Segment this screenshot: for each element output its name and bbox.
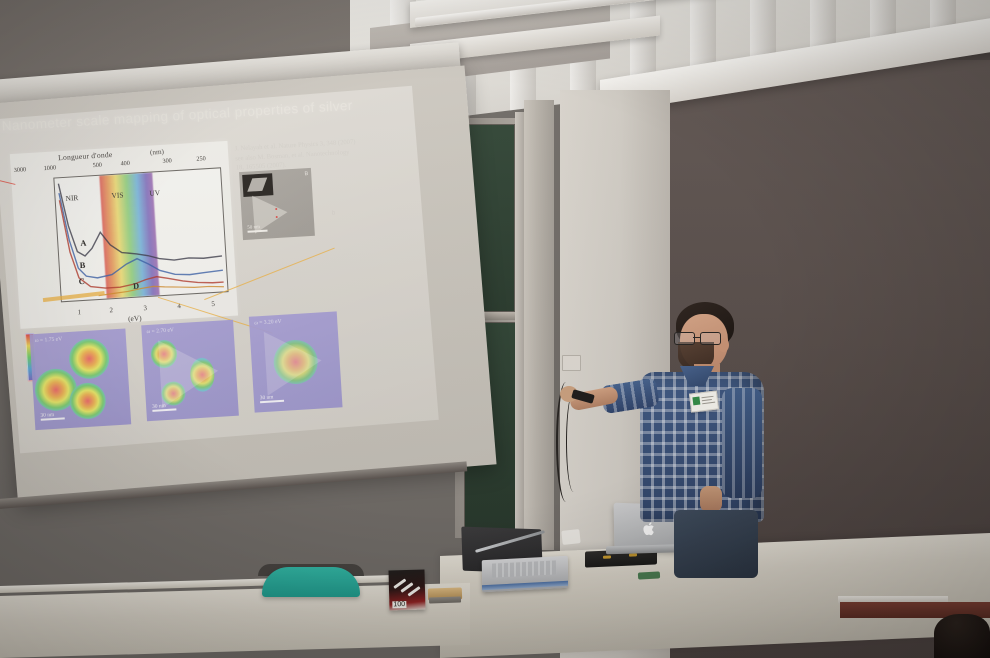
band-label-nir: NIR — [65, 193, 78, 203]
top-tick: 1000 — [44, 164, 57, 172]
presenter-person — [618, 296, 798, 578]
eels-map-label: ω = 3.20 eV — [254, 319, 282, 327]
top-tick: 3000 — [14, 166, 27, 174]
x-tick: 2 — [109, 306, 113, 314]
nanoprism-shape — [247, 178, 267, 192]
jeans — [674, 510, 758, 578]
tem-scalebar-label: 50 nm — [247, 225, 260, 231]
top-tick: 400 — [120, 160, 130, 168]
badge-logo-icon — [692, 397, 700, 406]
probe-point — [276, 216, 278, 218]
right-arm — [722, 388, 762, 498]
glasses-icon — [674, 332, 722, 344]
chart-plot-area: NIR VIS UV A B C D — [53, 167, 228, 302]
eels-map-label: ω = 1.75 eV — [35, 336, 63, 344]
eels-map-3p20ev: ω = 3.20 eV 30 nm — [249, 311, 343, 412]
status-light — [603, 555, 611, 558]
eels-map-scalebar-label: 30 nm — [40, 412, 54, 419]
chair-backrest — [262, 567, 360, 597]
eraser-felt — [429, 596, 461, 603]
name-badge — [689, 390, 719, 412]
eels-map-scalebar-label: 30 nm — [260, 394, 274, 401]
x-tick: 1 — [77, 308, 81, 316]
wall-switch[interactable] — [562, 355, 581, 371]
projection-screen: Nanometer scale mapping of optical prope… — [0, 66, 497, 503]
right-hand-in-pocket — [700, 486, 722, 512]
x-tick: 5 — [211, 300, 215, 308]
chalk-box-count: 100 — [392, 601, 406, 608]
nanoprism-outline — [264, 328, 324, 395]
curve-label-b: B — [79, 261, 85, 270]
chart-top-axis-unit: (nm) — [150, 148, 164, 157]
band-label-vis: VIS — [111, 190, 123, 200]
photo-scene: Nanometer scale mapping of optical prope… — [0, 0, 990, 658]
projected-slide: Nanometer scale mapping of optical prope… — [0, 86, 439, 454]
eels-map-label: ω = 2.70 eV — [146, 327, 174, 335]
chart-y-axis-label: Intensité (unité arb.) — [0, 141, 1, 202]
slide-title: Nanometer scale mapping of optical prope… — [1, 95, 401, 134]
nanoprism-outline — [158, 337, 220, 408]
chalk-box[interactable]: 100 — [388, 570, 425, 611]
band-label-uv: UV — [149, 188, 160, 198]
probe-point — [275, 208, 277, 210]
tem-micrograph-inset: 50 nm B — [239, 168, 315, 240]
plasmon-hotspot — [68, 338, 110, 380]
eels-map-1p75ev: ω = 1.75 eV 30 nm — [30, 328, 132, 430]
screen-side-casing — [524, 100, 554, 550]
top-tick: 250 — [196, 155, 206, 163]
tem-side-label: b — [332, 210, 336, 216]
curve-label-c: C — [78, 277, 85, 286]
x-tick: 3 — [143, 304, 147, 312]
top-tick: 500 — [92, 162, 102, 170]
top-tick: 300 — [162, 157, 172, 165]
chart-top-axis-title: Longueur d'onde — [58, 150, 113, 162]
power-adapter[interactable] — [561, 529, 580, 545]
chart-x-axis-label: (eV) — [128, 313, 142, 323]
eels-map-2p70ev: ω = 2.70 eV 30 nm — [141, 320, 239, 421]
curve-label-a: A — [80, 239, 87, 248]
tem-corner-label: B — [304, 171, 308, 177]
eels-map-scalebar-label: 30 nm — [152, 403, 166, 410]
curve-label-d: D — [133, 282, 140, 291]
plasmon-hotspot — [69, 382, 107, 420]
audience-member-head — [934, 614, 990, 658]
